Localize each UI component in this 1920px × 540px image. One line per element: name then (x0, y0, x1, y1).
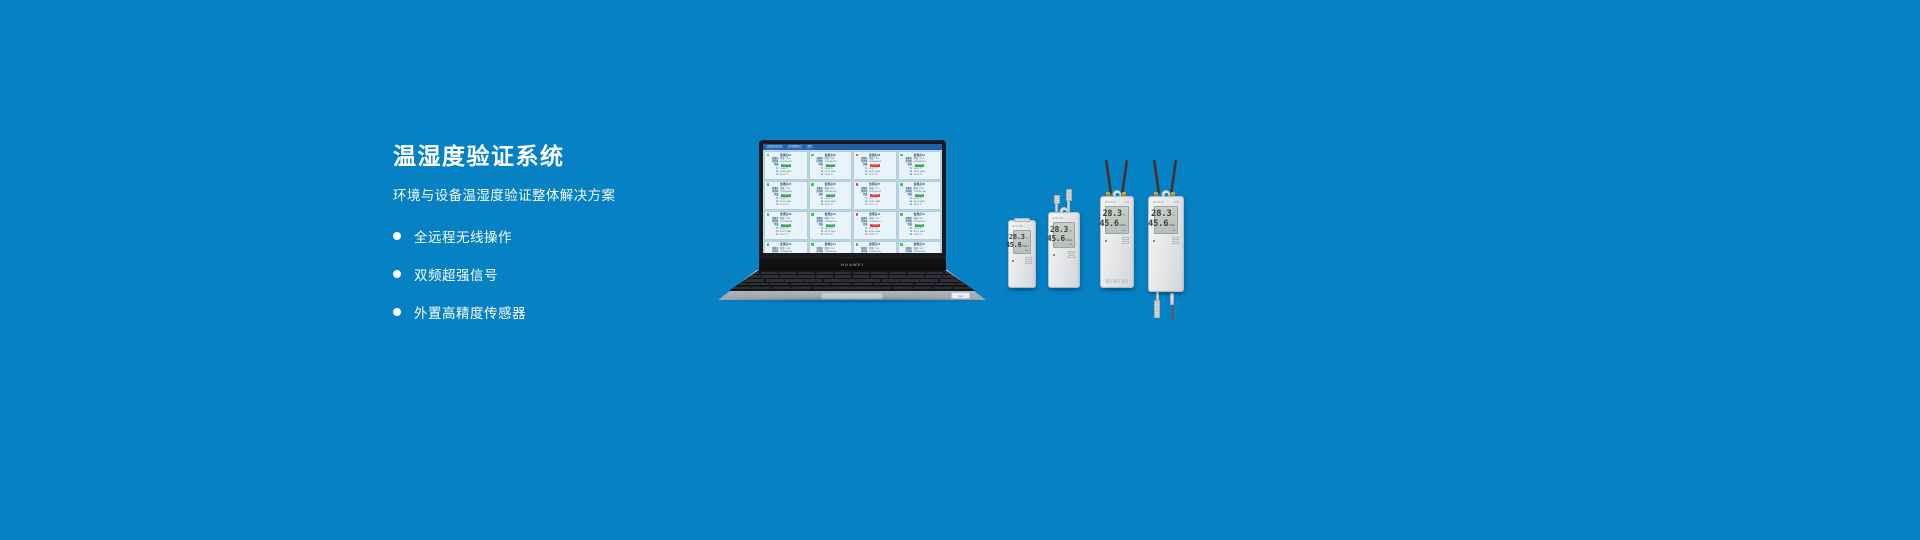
lcd-sub-label: RH (1016, 250, 1029, 252)
card-title: 监测点13 (767, 243, 805, 247)
card-field-rows: 设备名测温-T106序列号1120000106状态在线采集T125.02 ℃T2… (812, 188, 850, 207)
humidity-unit: %RH (1169, 224, 1175, 227)
card-row-key: T3 (767, 234, 780, 237)
lcd-humidity-line: 45.6%RH (1108, 219, 1125, 229)
card-row-value: 1120000113 (780, 251, 805, 253)
card-field-rows: 设备名测温-T101序列号1120000101状态在线采集T125.08 ℃T2… (767, 158, 805, 177)
card-row-key: T3 (812, 234, 825, 237)
temperature-value: 28.3 (1151, 209, 1171, 219)
keyboard-key[interactable] (943, 275, 960, 278)
keyboard-key[interactable] (824, 279, 842, 282)
keyboard-key[interactable] (813, 287, 832, 290)
monitoring-card[interactable]: 监测点09设备名测温-T109序列号1120000109状态在线采集T125.1… (764, 211, 808, 240)
keyboard-key[interactable] (749, 283, 768, 286)
monitoring-card[interactable]: 监测点15设备名测温-T115序列号1120000115状态在线采集T125.1… (853, 241, 897, 253)
keyboard-key[interactable] (915, 283, 934, 286)
card-field-rows: 设备名测温-T105序列号1120000105状态在线采集T125.09 ℃T2… (767, 188, 805, 207)
temperature-value: 28.3 (1009, 233, 1025, 241)
device-button-2[interactable] (1172, 241, 1179, 244)
device-model-label: H8 (1125, 200, 1130, 204)
card-row-value: 25.04 ℃ (914, 174, 939, 177)
keyboard-row (726, 275, 979, 278)
keyboard-key[interactable] (925, 275, 942, 278)
keyboard-key[interactable] (907, 275, 924, 278)
feature-item-2: 双频超强信号 (393, 264, 723, 284)
hero-subtitle: 环境与设备温湿度验证整体解决方案 (393, 187, 723, 205)
bullet-dot-icon (393, 270, 401, 278)
card-row: T325.07 ℃ (812, 234, 850, 237)
keyboard-key[interactable] (873, 283, 892, 286)
device-logger-compact[interactable]: ENOW28.3℃45.6%RHRH (1008, 220, 1036, 288)
humidity-value: 45.6 (1148, 219, 1168, 229)
humidity-unit: %RH (1066, 239, 1072, 242)
feature-item-1: 全远程无线操作 (393, 226, 723, 246)
device-shadow (1096, 287, 1138, 292)
keyboard-key[interactable] (780, 275, 797, 278)
device-button-2[interactable] (1068, 255, 1075, 258)
keyboard-key[interactable] (742, 272, 759, 275)
device-brand-row: ENOWH8 (1153, 200, 1179, 204)
card-field-rows: 设备名测温-T109序列号1120000109状态在线采集T125.13 ℃T2… (767, 218, 805, 237)
status-led-icon (900, 183, 903, 186)
card-field-rows: 设备名测温-T107序列号1120000107状态报警超限T125.17 ℃T2… (856, 188, 894, 207)
keyboard-key[interactable] (871, 272, 888, 275)
device-button-2[interactable] (1122, 241, 1129, 244)
topbar-item-1[interactable]: 温湿度验证系统 (765, 145, 784, 150)
keyboard-key[interactable] (834, 272, 851, 275)
card-field-rows: 设备名测温-T102序列号1120000102状态在线采集T125.06 ℃T2… (812, 158, 850, 177)
keyboard-key[interactable] (770, 283, 789, 286)
status-led-icon (856, 154, 859, 157)
keyboard-key[interactable] (920, 279, 938, 282)
keyboard-key[interactable] (779, 272, 796, 275)
lcd-sub-label: RH (1056, 244, 1072, 246)
monitoring-card[interactable]: 监测点03设备名测温-T103序列号1120000103状态报警超限T125.1… (853, 151, 897, 180)
device-body: ENOW28.3℃45.6%RHRH (1048, 212, 1080, 288)
lcd-sub-label: RH (1157, 230, 1175, 232)
card-field-rows: 设备名测温-T103序列号1120000103状态报警超限T125.11 ℃T2… (856, 158, 894, 177)
keyboard-key[interactable] (871, 275, 888, 278)
card-row-value: 25.11 ℃ (869, 174, 894, 177)
status-led-icon (811, 183, 814, 186)
keyboard-key[interactable] (726, 275, 743, 278)
monitoring-card[interactable]: 监测点14设备名测温-T114序列号1120000114状态在线采集T125.0… (809, 241, 853, 253)
lcd-temperature-line: 28.3℃ (1016, 233, 1029, 241)
lcd-display: 28.3℃45.6%RHRH (1154, 206, 1178, 234)
device-button-1[interactable] (1025, 257, 1032, 260)
humidity-unit: %RH (1119, 224, 1125, 227)
keyboard-key[interactable] (729, 283, 748, 286)
humidity-value: 45.6 (1006, 241, 1022, 249)
status-led-icon (767, 213, 770, 216)
card-row-value: 25.06 ℃ (825, 174, 850, 177)
card-field-rows: 设备名测温-T114序列号1120000114状态在线采集T125.01 ℃T2… (812, 248, 850, 253)
status-badge: 在线采集 (915, 194, 925, 197)
device-controls (1053, 251, 1076, 258)
lcd-display: 28.3℃45.6%RHRH (1105, 206, 1128, 234)
card-row-value: 25.21 ℃ (869, 234, 894, 237)
device-lineup: ENOW28.3℃45.6%RHRHENOW28.3℃45.6%RHRHENOW… (1000, 190, 1220, 330)
device-controls (1105, 237, 1129, 244)
device-button-1[interactable] (1172, 237, 1179, 240)
card-title: 监测点14 (812, 243, 850, 247)
lcd-humidity-line: 45.6%RH (1016, 241, 1029, 249)
status-badge: 在线采集 (781, 194, 791, 197)
card-row: 序列号1120000114 (812, 251, 850, 253)
keyboard-key[interactable] (926, 272, 943, 275)
keyboard-key[interactable] (954, 287, 973, 290)
laptop-brand-logo: HUAWEI (841, 262, 864, 267)
keyboard-key[interactable] (804, 279, 822, 282)
keyboard-key[interactable] (893, 287, 912, 290)
feature-item-3: 外置高精度传感器 (393, 302, 723, 322)
keyboard-key[interactable] (798, 275, 815, 278)
card-row: T325.03 ℃ (901, 234, 939, 237)
keyboard-key[interactable] (913, 287, 932, 290)
device-led-icon (1153, 240, 1155, 242)
status-badge: 在线采集 (826, 194, 836, 197)
device-controls (1012, 257, 1032, 264)
temperature-unit: ℃ (1123, 214, 1126, 217)
device-button-column (1068, 251, 1075, 258)
keyboard-key[interactable] (791, 283, 810, 286)
card-row-key: T3 (901, 204, 914, 207)
hero-text-block: 温湿度验证系统 环境与设备温湿度验证整体解决方案 全远程无线操作双频超强信号外置… (393, 143, 723, 340)
humidity-unit: %RH (1022, 245, 1028, 248)
antenna-1 (1153, 160, 1160, 194)
device-model-label: H8 (1174, 200, 1179, 204)
card-title: 监测点15 (856, 243, 894, 247)
card-row: T325.09 ℃ (767, 204, 805, 207)
status-led-icon (767, 154, 770, 157)
device-brand-row: ENOW (1012, 224, 1032, 228)
monitoring-card[interactable]: 监测点01设备名测温-T101序列号1120000101状态在线采集T125.0… (764, 151, 808, 180)
monitoring-card[interactable]: 监测点12设备名测温-T112序列号1120000112状态在线采集T125.0… (898, 211, 942, 240)
device-button-2[interactable] (1025, 261, 1032, 264)
lcd-temperature-line: 28.3℃ (1056, 225, 1072, 234)
device-brand-left: ENOW (1053, 216, 1064, 220)
card-row: T325.13 ℃ (767, 234, 805, 237)
card-row-key: T3 (856, 234, 869, 237)
keyboard-key[interactable] (889, 275, 906, 278)
keyboard-key[interactable] (730, 287, 749, 290)
keyboard-key[interactable] (785, 279, 803, 282)
temperature-unit: ℃ (1025, 237, 1028, 240)
temperature-value: 28.3 (1050, 225, 1068, 234)
status-led-icon (856, 243, 859, 246)
keyboard-key[interactable] (832, 283, 851, 286)
keyboard-key[interactable] (816, 272, 833, 275)
status-badge: 在线采集 (781, 164, 791, 167)
card-row-key: T3 (767, 204, 780, 207)
status-led-icon (811, 243, 814, 246)
device-led-icon (1105, 240, 1107, 242)
card-row-key: 序列号 (856, 251, 869, 253)
card-title: 监测点16 (901, 243, 939, 247)
card-row-key: 序列号 (767, 251, 780, 253)
keyboard-key[interactable] (762, 275, 779, 278)
device-body: ENOWH828.3℃45.6%RHRH (1148, 196, 1184, 292)
device-button-1[interactable] (1068, 251, 1075, 254)
device-button-column (1172, 237, 1179, 244)
keyboard-key[interactable] (853, 283, 872, 286)
card-row-value: 25.02 ℃ (825, 204, 850, 207)
lcd-temperature-line: 28.3℃ (1108, 209, 1125, 219)
card-field-rows: 设备名测温-T110序列号1120000110状态在线采集T125.07 ℃T2… (812, 218, 850, 237)
probe-tip-2 (1066, 189, 1072, 201)
keyboard-key[interactable] (862, 279, 880, 282)
keyboard-key[interactable] (963, 272, 980, 275)
device-controls (1153, 237, 1179, 244)
keyboard-key[interactable] (833, 287, 891, 290)
card-field-rows: 设备名测温-T116序列号1120000116状态在线采集T125.06 ℃T2… (901, 248, 939, 253)
monitoring-card[interactable]: 监测点02设备名测温-T102序列号1120000102状态在线采集T125.0… (809, 151, 853, 180)
keyboard-key[interactable] (724, 272, 741, 275)
device-led-icon (1012, 260, 1014, 262)
card-row-value: 1120000116 (914, 251, 939, 253)
keyboard-key[interactable] (816, 275, 833, 278)
lcd-sub-label: RH (1108, 230, 1125, 232)
lcd-humidity-line: 45.6%RH (1056, 234, 1072, 243)
monitoring-card[interactable]: 监测点13设备名测温-T113序列号1120000113状态在线采集T125.1… (764, 241, 808, 253)
probe-tip-1 (1054, 195, 1060, 204)
humidity-value: 45.6 (1047, 234, 1065, 243)
status-badge: 在线采集 (826, 224, 836, 227)
card-title: 监测点04 (901, 154, 939, 158)
monitoring-card[interactable]: 监测点05设备名测温-T105序列号1120000105状态在线采集T125.0… (764, 181, 808, 210)
device-brand-row: ENOW (1053, 216, 1076, 220)
keyboard-key[interactable] (772, 287, 791, 290)
page-title: 温湿度验证系统 (393, 143, 723, 171)
monitoring-card[interactable]: 监测点16设备名测温-T116序列号1120000116状态在线采集T125.0… (898, 241, 942, 253)
status-led-icon (811, 213, 814, 216)
status-badge: 在线采集 (915, 224, 925, 227)
status-badge: 报警超限 (870, 224, 880, 227)
device-brand-left: ENOW (1012, 224, 1023, 228)
status-badge: 报警超限 (870, 194, 880, 197)
laptop-device: 温湿度验证系统实时数据监控报警 监测点01设备名测温-T101序列号112000… (718, 140, 986, 300)
card-row-value: 25.07 ℃ (825, 234, 850, 237)
device-brand-left: ENOW (1153, 200, 1164, 204)
keyboard-row (730, 287, 973, 290)
laptop-screen: 温湿度验证系统实时数据监控报警 监测点01设备名测温-T101序列号112000… (763, 144, 942, 253)
status-led-icon (900, 213, 903, 216)
keyboard-row (724, 272, 980, 275)
lcd-temperature-line: 28.3℃ (1157, 209, 1175, 219)
card-row-value: 25.05 ℃ (914, 204, 939, 207)
status-led-icon (767, 183, 770, 186)
keyboard-key[interactable] (766, 279, 784, 282)
card-row: T325.05 ℃ (901, 204, 939, 207)
card-row-key: 序列号 (901, 251, 914, 253)
card-field-rows: 设备名测温-T115序列号1120000115状态在线采集T125.14 ℃T2… (856, 248, 894, 253)
keyboard-key[interactable] (945, 272, 962, 275)
card-title: 监测点09 (767, 213, 805, 217)
keyboard-key[interactable] (761, 272, 778, 275)
device-logger-probe[interactable]: ENOW28.3℃45.6%RHRH (1048, 212, 1080, 288)
keyboard-key[interactable] (908, 272, 925, 275)
status-led-icon (856, 183, 859, 186)
status-led-icon (900, 243, 903, 246)
device-body: ENOWH828.3℃45.6%RHRH (1100, 196, 1134, 288)
card-row-key: T3 (767, 174, 780, 177)
status-led-icon (811, 154, 814, 157)
feature-label: 全远程无线操作 (414, 226, 512, 246)
keyboard-key[interactable] (853, 275, 870, 278)
card-title: 监测点10 (812, 213, 850, 217)
status-led-icon (856, 213, 859, 216)
card-row-value: 25.17 ℃ (869, 204, 894, 207)
keyboard-key[interactable] (901, 279, 919, 282)
card-field-rows: 设备名测温-T111序列号1120000111状态报警超限T125.21 ℃T2… (856, 218, 894, 237)
device-button-column (1025, 257, 1032, 264)
card-field-rows: 设备名测温-T108序列号1120000108状态在线采集T125.05 ℃T2… (901, 188, 939, 207)
card-row: T325.02 ℃ (812, 204, 850, 207)
card-row-value: 1120000115 (869, 251, 894, 253)
laptop-keyboard[interactable] (718, 270, 986, 291)
card-row-value: 25.08 ℃ (780, 174, 805, 177)
status-led-icon (767, 243, 770, 246)
card-title: 监测点08 (901, 183, 939, 187)
monitoring-card-grid: 监测点01设备名测温-T101序列号1120000101状态在线采集T125.0… (763, 150, 942, 253)
card-row-key: T3 (812, 174, 825, 177)
feature-label: 外置高精度传感器 (414, 302, 526, 322)
keyboard-key[interactable] (889, 272, 906, 275)
laptop-lid: 温湿度验证系统实时数据监控报警 监测点01设备名测温-T101序列号112000… (759, 140, 946, 258)
keyboard-key[interactable] (792, 287, 811, 290)
keyboard-key[interactable] (935, 283, 954, 286)
card-row-key: T3 (856, 174, 869, 177)
card-title: 监测点05 (767, 183, 805, 187)
status-badge: 在线采集 (915, 164, 925, 167)
card-title: 监测点02 (812, 154, 850, 158)
device-logger-wireless-probe[interactable]: ENOWH828.3℃45.6%RHRH (1148, 196, 1184, 292)
card-row-key: T3 (856, 204, 869, 207)
keyboard-key[interactable] (811, 283, 830, 286)
keyboard-key[interactable] (835, 275, 852, 278)
card-row-key: T3 (901, 174, 914, 177)
status-badge: 报警超限 (870, 164, 880, 167)
feature-label: 双频超强信号 (414, 264, 498, 284)
card-title: 监测点11 (856, 213, 894, 217)
topbar-item-2[interactable]: 实时数据监控 (786, 145, 803, 150)
keyboard-key[interactable] (882, 279, 900, 282)
card-row: T325.17 ℃ (856, 204, 894, 207)
card-row: T325.21 ℃ (856, 234, 894, 237)
keyboard-key[interactable] (934, 287, 953, 290)
card-title: 监测点06 (812, 183, 850, 187)
card-row-key: T3 (901, 234, 914, 237)
keyboard-key[interactable] (962, 275, 979, 278)
device-shadow (1144, 291, 1188, 296)
keyboard-row (729, 283, 975, 286)
card-field-rows: 设备名测温-T104序列号1120000104状态在线采集T125.04 ℃T2… (901, 158, 939, 177)
card-field-rows: 设备名测温-T112序列号1120000112状态在线采集T125.03 ℃T2… (901, 218, 939, 237)
keyboard-key[interactable] (751, 287, 770, 290)
card-row: 序列号1120000116 (901, 251, 939, 253)
temperature-value: 28.3 (1103, 209, 1122, 219)
card-row: T325.08 ℃ (767, 174, 805, 177)
antenna-2 (1121, 160, 1128, 194)
keyboard-key[interactable] (798, 272, 815, 275)
card-field-rows: 设备名测温-T113序列号1120000113状态在线采集T125.10 ℃T2… (767, 248, 805, 253)
status-led-icon (900, 154, 903, 157)
lcd-display: 28.3℃45.6%RHRH (1013, 230, 1032, 254)
monitoring-card[interactable]: 监测点11设备名测温-T111序列号1120000111状态报警超限T125.2… (853, 211, 897, 240)
device-brand-left: ENOW (1105, 200, 1116, 204)
lcd-humidity-line: 45.6%RH (1157, 219, 1175, 229)
bullet-dot-icon (393, 308, 401, 316)
keyboard-key[interactable] (853, 272, 870, 275)
card-title: 监测点03 (856, 154, 894, 158)
card-title: 监测点01 (767, 154, 805, 158)
monitoring-card[interactable]: 监测点07设备名测温-T107序列号1120000107状态报警超限T125.1… (853, 181, 897, 210)
laptop-hinge: HUAWEI (759, 258, 946, 271)
card-row-value: 25.13 ℃ (780, 234, 805, 237)
keyboard-key[interactable] (894, 283, 913, 286)
bullet-dot-icon (393, 232, 401, 240)
keyboard-key[interactable] (746, 279, 764, 282)
device-logger-wireless-vent[interactable]: ENOWH828.3℃45.6%RHRH (1100, 196, 1134, 288)
top-vent-grille (1014, 218, 1030, 222)
device-led-icon (1053, 254, 1055, 256)
device-shadow (1004, 287, 1040, 292)
card-row-key: 序列号 (812, 251, 825, 253)
laptop-shadow (706, 297, 998, 304)
device-button-1[interactable] (1122, 237, 1129, 240)
humidity-value: 45.6 (1099, 219, 1118, 229)
monitoring-card[interactable]: 监测点06设备名测温-T106序列号1120000106状态在线采集T125.0… (809, 181, 853, 210)
hero-banner: 温湿度验证系统 环境与设备温湿度验证整体解决方案 全远程无线操作双频超强信号外置… (0, 0, 1920, 540)
monitoring-card[interactable]: 监测点04设备名测温-T104序列号1120000104状态在线采集T125.0… (898, 151, 942, 180)
antenna-2 (1170, 160, 1177, 194)
card-row: T325.04 ℃ (901, 174, 939, 177)
card-row: T325.06 ℃ (812, 174, 850, 177)
monitoring-card[interactable]: 监测点08设备名测温-T108序列号1120000108状态在线采集T125.0… (898, 181, 942, 210)
status-badge: 在线采集 (781, 224, 791, 227)
status-badge: 在线采集 (826, 164, 836, 167)
card-row-value: 1120000114 (825, 251, 850, 253)
keyboard-key[interactable] (956, 283, 975, 286)
feature-list: 全远程无线操作双频超强信号外置高精度传感器 (393, 226, 723, 322)
keyboard-row (727, 279, 977, 282)
card-title: 监测点12 (901, 213, 939, 217)
keyboard-key[interactable] (744, 275, 761, 278)
card-row-key: T3 (812, 204, 825, 207)
temperature-unit: ℃ (1172, 214, 1175, 217)
keyboard-key[interactable] (843, 279, 861, 282)
device-body: ENOW28.3℃45.6%RHRH (1008, 220, 1036, 288)
card-row-value: 25.09 ℃ (780, 204, 805, 207)
card-row-value: 25.03 ℃ (914, 234, 939, 237)
card-row: 序列号1120000113 (767, 251, 805, 253)
probe-tip-1 (1154, 300, 1160, 318)
device-button-column (1122, 237, 1129, 244)
card-row: 序列号1120000115 (856, 251, 894, 253)
monitoring-card[interactable]: 监测点10设备名测温-T110序列号1120000110状态在线采集T125.0… (809, 211, 853, 240)
device-shadow (1044, 287, 1084, 292)
antenna-1 (1104, 160, 1111, 194)
temperature-unit: ℃ (1069, 230, 1072, 233)
device-brand-row: ENOWH8 (1105, 200, 1129, 204)
bottom-vent-grille (1105, 279, 1129, 283)
card-row: T325.11 ℃ (856, 174, 894, 177)
topbar-item-3[interactable]: 报警 (805, 145, 813, 150)
lcd-display: 28.3℃45.6%RHRH (1053, 222, 1075, 248)
keyboard-key[interactable] (940, 279, 958, 282)
card-title: 监测点07 (856, 183, 894, 187)
